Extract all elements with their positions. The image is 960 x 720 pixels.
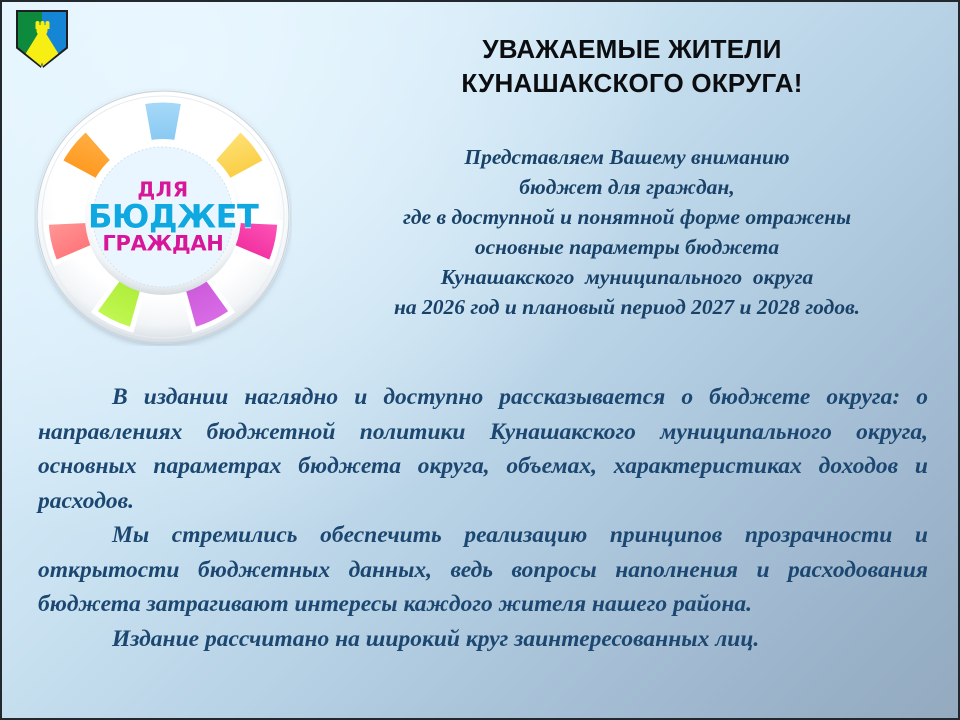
shield-field — [18, 12, 66, 66]
presentation-slide: ДЛЯ БЮДЖЕТ ГРАЖДАН УВАЖАЕМЫЕ ЖИТЕЛИ КУНА… — [0, 0, 960, 720]
headline-line-1: УВАЖАЕМЫЕ ЖИТЕЛИ — [322, 32, 942, 66]
intro-block: Представляем Вашему вниманию бюджет для … — [302, 142, 952, 323]
headline-line-2: КУНАШАКСКОГО ОКРУГА! — [322, 66, 942, 100]
tulip-charge-icon — [35, 21, 50, 38]
intro-line-1: Представляем Вашему вниманию — [302, 142, 952, 172]
body-block: В издании наглядно и доступно рассказыва… — [38, 380, 928, 656]
page-title: УВАЖАЕМЫЕ ЖИТЕЛИ КУНАШАКСКОГО ОКРУГА! — [322, 32, 942, 101]
intro-line-4: основные параметры бюджета — [302, 232, 952, 262]
budget-for-citizens-wheel-graphic: ДЛЯ БЮДЖЕТ ГРАЖДАН — [34, 88, 292, 346]
wheel-center-disc — [93, 147, 233, 287]
body-paragraph-1: В издании наглядно и доступно рассказыва… — [38, 380, 928, 518]
wheel-svg — [34, 88, 292, 346]
intro-line-2: бюджет для граждан, — [302, 172, 952, 202]
body-paragraph-2: Мы стремились обеспечить реализацию прин… — [38, 518, 928, 622]
intro-line-5: Кунашакского муниципального округа — [302, 262, 952, 292]
intro-line-6: на 2026 год и плановый период 2027 и 202… — [302, 292, 952, 322]
coat-of-arms-icon — [16, 10, 68, 68]
body-paragraph-3: Издание рассчитано на широкий круг заинт… — [38, 622, 928, 657]
intro-line-3: где в доступной и понятной форме отражен… — [302, 202, 952, 232]
